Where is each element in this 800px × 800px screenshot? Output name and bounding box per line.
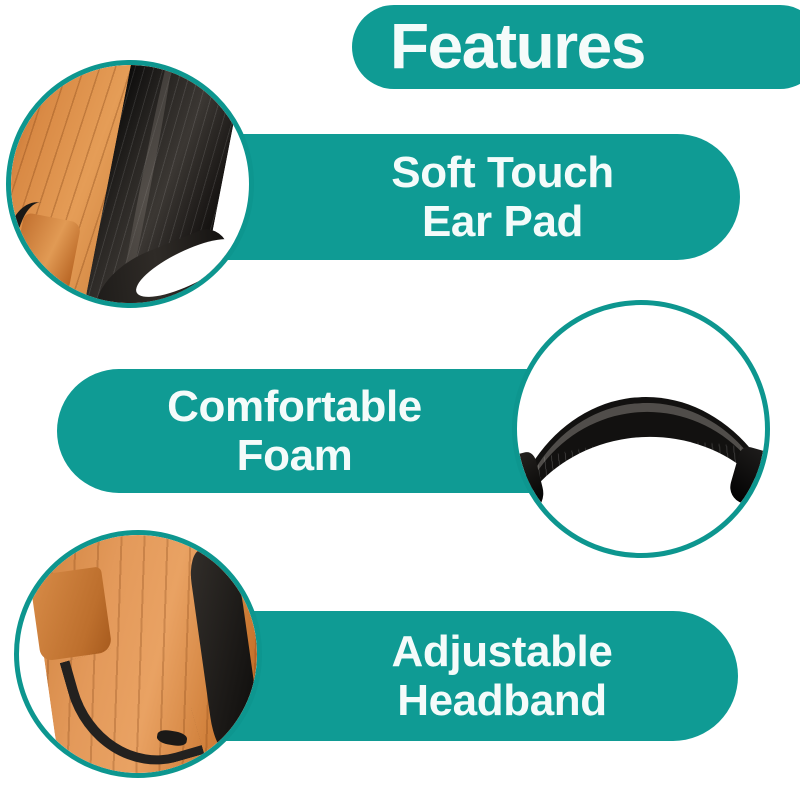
feature-photo-adjustable-headband [14, 530, 262, 778]
features-infographic: Features Soft Touch Ear Pad Comfortable … [0, 0, 800, 800]
headband-foam-photo-artwork [517, 305, 765, 553]
feature-label-comfortable-foam: Comfortable Foam [167, 382, 422, 481]
feature-photo-comfortable-foam [512, 300, 770, 558]
headband-slider-photo-artwork [19, 535, 257, 773]
feature-photo-soft-touch-ear-pad [6, 60, 254, 308]
headband-foam-sheen-shape [517, 396, 765, 553]
feature-label-adjustable-headband: Adjustable Headband [392, 627, 613, 726]
ear-pad-photo-artwork [11, 65, 249, 303]
header-title-pill: Features [352, 5, 800, 89]
headband-slider-tab-shape [29, 566, 112, 661]
page-title: Features [390, 11, 645, 83]
feature-label-soft-touch-ear-pad: Soft Touch Ear Pad [391, 148, 613, 247]
